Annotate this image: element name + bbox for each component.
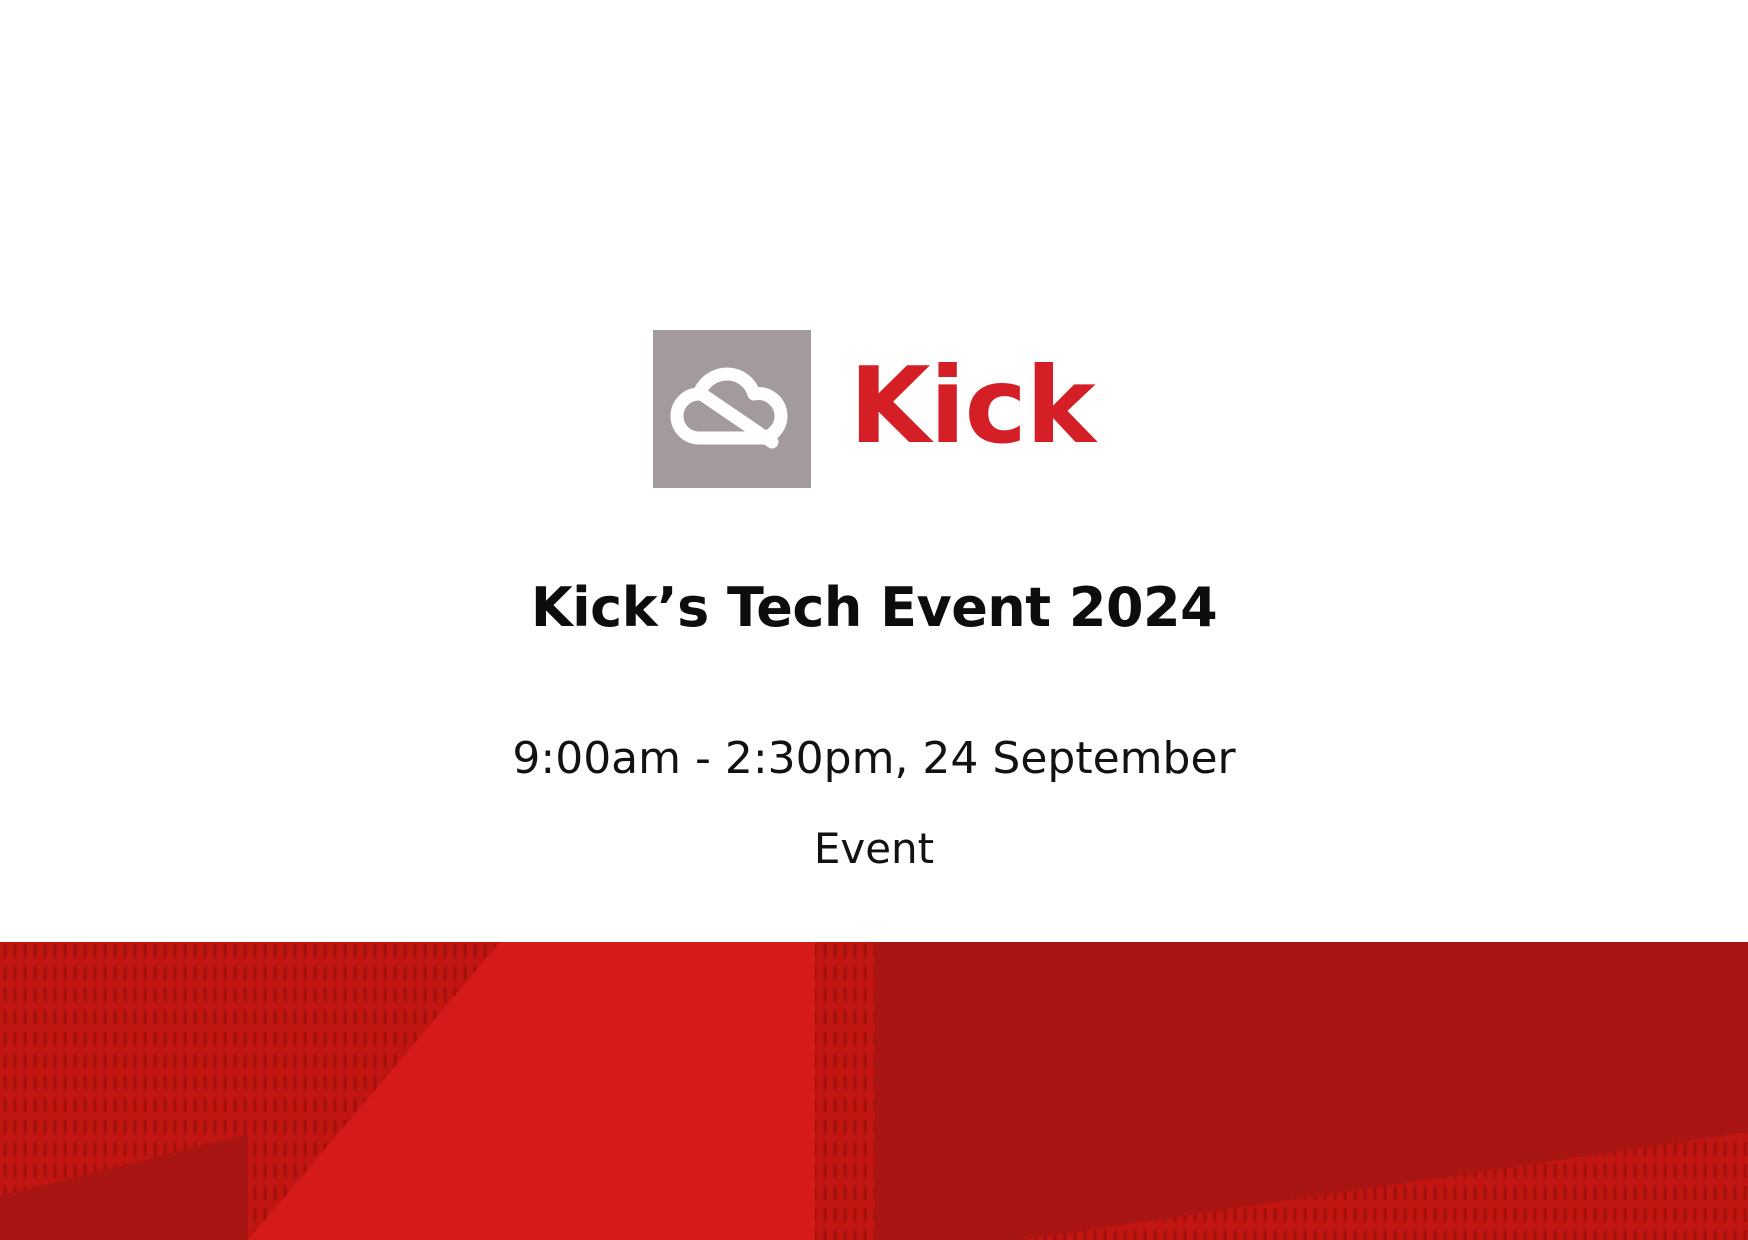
brand-wordmark: Kick xyxy=(849,354,1094,459)
event-card: Kick Kick’s Tech Event 2024 9:00am - 2:3… xyxy=(0,0,1748,1240)
event-time: 9:00am - 2:30pm, 24 September xyxy=(512,733,1235,786)
cloud-logo-icon xyxy=(653,330,811,488)
card-content: Kick Kick’s Tech Event 2024 9:00am - 2:3… xyxy=(0,0,1748,942)
event-type-label: Event xyxy=(814,824,934,874)
decorative-banner xyxy=(0,942,1748,1240)
event-title: Kick’s Tech Event 2024 xyxy=(531,578,1217,637)
banner-strip-texture xyxy=(815,942,875,1240)
brand-lockup: Kick xyxy=(653,330,1094,488)
